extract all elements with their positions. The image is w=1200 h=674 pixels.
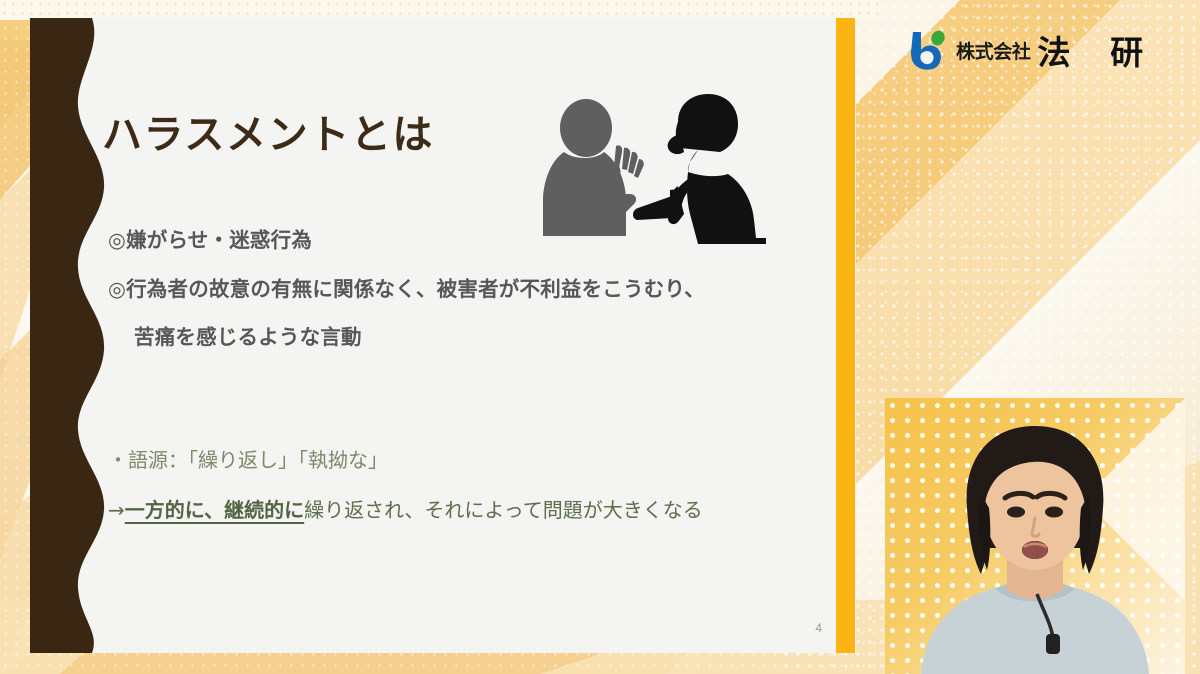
lapel-mic [1046,634,1060,654]
company-logo: 株式会社 法 研 [905,24,1146,76]
logo-company-name: 法 研 [1037,26,1146,74]
wavy-edge-decoration [30,18,106,653]
bullet-list: ◎嫌がらせ・迷惑行為 ◎行為者の故意の有無に関係なく、被害者が不利益をこうむり、… [108,230,838,376]
aggressor-silhouette [633,94,766,244]
presenter-video [885,398,1185,674]
note-rest: 繰り返され、それによって問題が大きくなる [304,498,703,522]
presentation-slide[interactable]: ハラスメントとは ◎嫌がらせ・迷惑行為 ◎行為者の故意の有無に関係なく、被害者が… [30,18,856,653]
note-list: ・語源：「繰り返し」「執拗な」 →一方的に、継続的に繰り返され、それによって問題… [108,450,848,550]
presenter-figure [885,398,1185,674]
arrow-glyph: → [108,498,125,522]
note-etymology: ・語源：「繰り返し」「執拗な」 [108,450,848,470]
note-conclusion: →一方的に、継続的に繰り返され、それによって問題が大きくなる [108,500,848,520]
background-top-band [0,0,880,20]
bullet-item: ◎行為者の故意の有無に関係なく、被害者が不利益をこうむり、 [108,279,838,300]
page-number: 4 [815,621,822,635]
note-emphasis: 一方的に、継続的に [125,498,304,522]
bullet-item: ◎嫌がらせ・迷惑行為 [108,230,838,251]
bullet-item: 苦痛を感じるような言動 [108,327,838,348]
page-title: ハラスメントとは [102,102,434,160]
slide-accent-bar [836,18,855,653]
victim-silhouette [543,99,644,236]
logo-prefix: 株式会社 [956,37,1030,64]
hoken-logo-icon [905,28,949,72]
harassment-silhouettes-illustration [530,86,770,254]
